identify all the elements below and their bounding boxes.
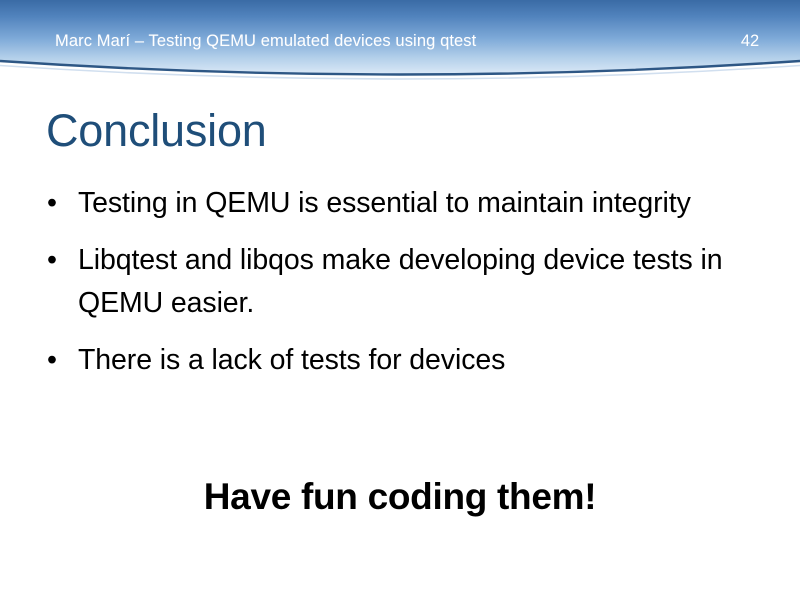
list-item: • There is a lack of tests for devices xyxy=(40,339,740,382)
bullet-list: • Testing in QEMU is essential to mainta… xyxy=(40,182,740,382)
bullet-dot-icon: • xyxy=(47,339,57,382)
slide-canvas: Marc Marí – Testing QEMU emulated device… xyxy=(0,0,800,600)
slide-number: 42 xyxy=(735,31,765,51)
list-item: • Testing in QEMU is essential to mainta… xyxy=(40,182,740,225)
list-item-text: There is a lack of tests for devices xyxy=(78,339,740,382)
header-banner: Marc Marí – Testing QEMU emulated device… xyxy=(0,0,800,86)
closing-statement: Have fun coding them! xyxy=(0,474,800,520)
bullet-dot-icon: • xyxy=(47,182,57,225)
presentation-header-title: Marc Marí – Testing QEMU emulated device… xyxy=(55,31,476,51)
list-item-text: Libqtest and libqos make developing devi… xyxy=(78,239,740,325)
page-title: Conclusion xyxy=(46,104,267,158)
list-item-text: Testing in QEMU is essential to maintain… xyxy=(78,182,740,225)
bullet-dot-icon: • xyxy=(47,239,57,282)
list-item: • Libqtest and libqos make developing de… xyxy=(40,239,740,325)
